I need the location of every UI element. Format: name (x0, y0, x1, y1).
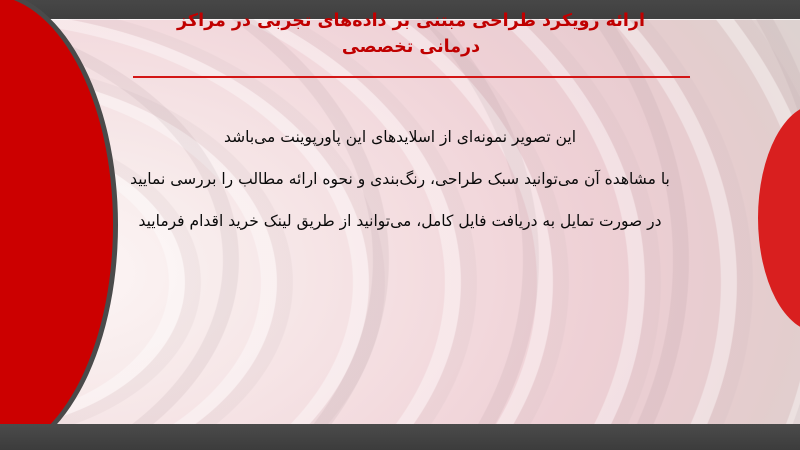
slide-canvas: ارائه رویکرد طراحی مبتنی بر داده‌های تجر… (0, 0, 800, 450)
slide-title: ارائه رویکرد طراحی مبتنی بر داده‌های تجر… (130, 8, 692, 60)
slide-title-line-2: درمانی تخصصی (130, 34, 692, 60)
title-underline-rule (133, 76, 690, 78)
slide-title-line-1: ارائه رویکرد طراحی مبتنی بر داده‌های تجر… (130, 8, 692, 34)
slide-body-text: این تصویر نمونه‌ای از اسلایدهای این پاور… (60, 116, 740, 242)
slide-frame-bottom-band (0, 424, 800, 450)
body-line-3: در صورت تمایل به دریافت فایل کامل، می‌تو… (60, 200, 740, 242)
body-line-1: این تصویر نمونه‌ای از اسلایدهای این پاور… (60, 116, 740, 158)
body-line-2: با مشاهده آن می‌توانید سبک طراحی، رنگ‌بن… (60, 158, 740, 200)
